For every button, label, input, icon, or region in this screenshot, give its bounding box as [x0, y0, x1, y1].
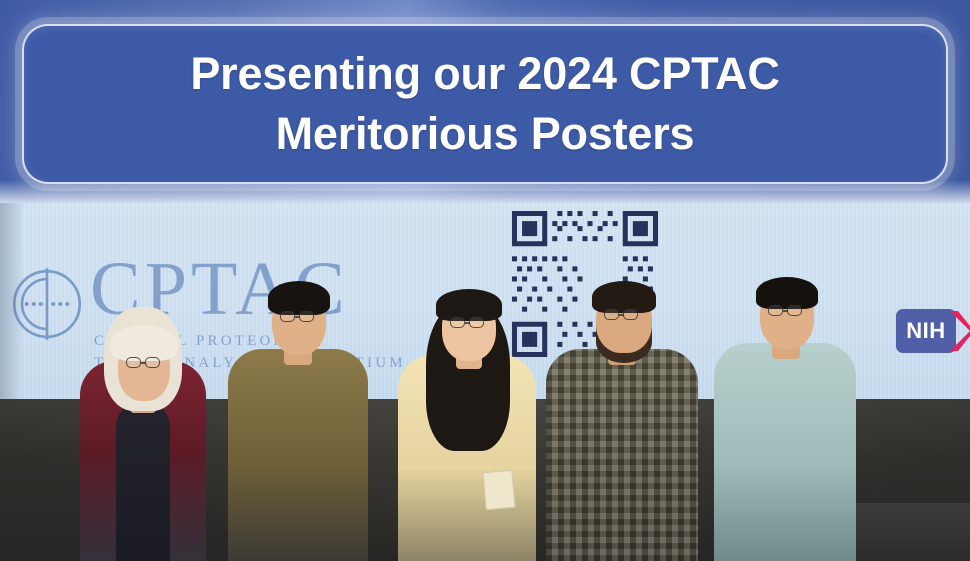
nih-chevron-icon [946, 309, 970, 353]
person-4-body [546, 349, 698, 561]
nih-logo-text: NIH [906, 318, 945, 344]
title-line-1: Presenting our 2024 CPTAC [190, 48, 779, 99]
header-band: Presenting our 2024 CPTAC Meritorious Po… [0, 0, 970, 206]
person-5 [714, 245, 856, 561]
nih-logo: NIH [896, 309, 970, 353]
person-1-glasses [126, 357, 166, 369]
person-2-glasses [280, 311, 320, 323]
person-2-body [228, 349, 368, 561]
person-2 [228, 251, 368, 561]
person-3-name-tag [482, 470, 515, 510]
poster-graphic: Presenting our 2024 CPTAC Meritorious Po… [0, 0, 970, 561]
cptac-logo-icon [8, 265, 86, 343]
person-5-body [714, 343, 856, 561]
person-3-glasses [450, 317, 490, 329]
person-1 [78, 261, 208, 561]
person-5-glasses [768, 305, 808, 317]
person-2-hair [268, 281, 330, 315]
group-photo: CPTAC CLINICAL PROTEOMIC TUMOR ANALYSIS … [0, 203, 970, 561]
person-4-glasses [604, 309, 644, 321]
page-title: Presenting our 2024 CPTAC Meritorious Po… [170, 44, 799, 164]
title-box: Presenting our 2024 CPTAC Meritorious Po… [22, 24, 948, 184]
person-1-torso [116, 401, 170, 561]
person-1-bangs [110, 325, 178, 361]
person-3 [398, 253, 536, 561]
person-4 [546, 249, 698, 561]
title-line-2: Meritorious Posters [276, 108, 695, 159]
